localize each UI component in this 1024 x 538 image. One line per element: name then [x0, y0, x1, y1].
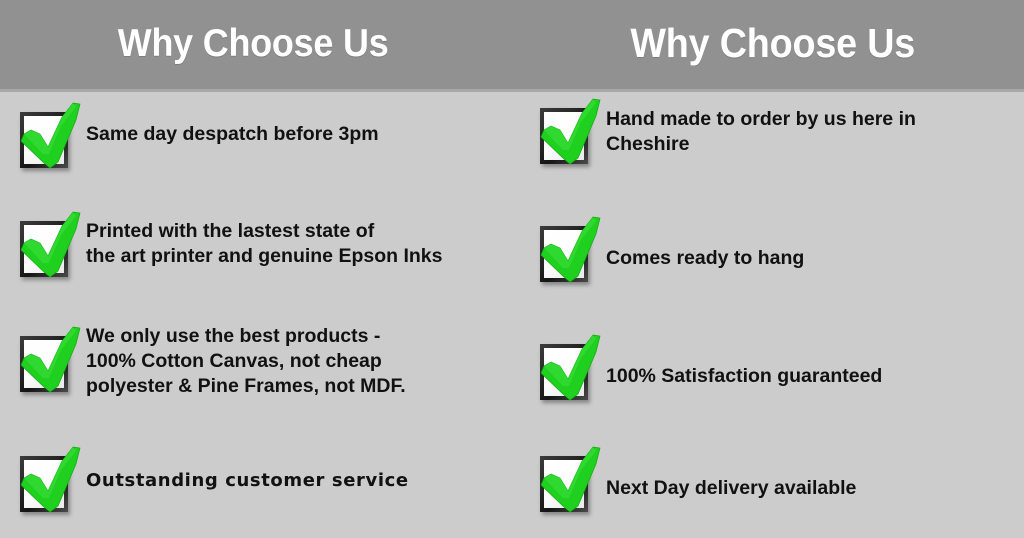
list-item-line: 100% Satisfaction guaranteed [606, 364, 882, 389]
list-item-line: Outstanding customer service [86, 468, 409, 493]
check-box-inner [544, 348, 584, 396]
check-box-inner [24, 116, 64, 164]
list-item: Printed with the lastest state of the ar… [18, 209, 442, 285]
list-item-text: Printed with the lastest state of the ar… [86, 209, 442, 269]
green-check-box-icon [18, 100, 86, 176]
check-box-inner [24, 340, 64, 388]
list-item-line: Same day despatch before 3pm [86, 122, 379, 147]
page-title-left: Why Choose Us [118, 24, 389, 63]
check-box-frame [20, 336, 68, 392]
check-box-inner [544, 460, 584, 508]
green-check-box-icon [18, 209, 86, 285]
check-box-inner [544, 230, 584, 278]
list-item-text: Outstanding customer service [86, 444, 409, 493]
header-column-right: Why Choose Us [512, 0, 1024, 92]
check-box-frame [20, 221, 68, 277]
check-box-inner [24, 225, 64, 273]
list-item-line: Comes ready to hang [606, 246, 804, 271]
list-item: Comes ready to hang [538, 214, 804, 290]
list-item: Hand made to order by us here in Cheshir… [538, 96, 916, 172]
page-title-right: Why Choose Us [631, 23, 916, 64]
check-box-frame [20, 456, 68, 512]
green-check-box-icon [538, 332, 606, 408]
list-item-text: We only use the best products - 100% Cot… [86, 324, 406, 399]
list-item-text: 100% Satisfaction guaranteed [606, 332, 882, 389]
list-item-text: Hand made to order by us here in Cheshir… [606, 96, 916, 157]
list-item-line: Cheshire [606, 132, 916, 157]
features-area: Same day despatch before 3pm Printed wit… [0, 92, 1024, 538]
green-check-box-icon [538, 214, 606, 290]
list-item: Same day despatch before 3pm [18, 100, 379, 176]
check-box-inner [24, 460, 64, 508]
check-box-frame [20, 112, 68, 168]
list-item-line: We only use the best products - [86, 324, 406, 349]
check-box-frame [540, 344, 588, 400]
list-item-text: Comes ready to hang [606, 214, 804, 271]
right-feature-column: Hand made to order by us here in Cheshir… [512, 92, 1024, 538]
list-item-line: the art printer and genuine Epson Inks [86, 244, 442, 269]
list-item: We only use the best products - 100% Cot… [18, 324, 406, 400]
check-box-frame [540, 456, 588, 512]
header-band: Why Choose Us Why Choose Us [0, 0, 1024, 92]
list-item-text: Next Day delivery available [606, 444, 856, 501]
check-box-frame [540, 108, 588, 164]
list-item-line: Printed with the lastest state of [86, 219, 442, 244]
list-item-line: Next Day delivery available [606, 476, 856, 501]
check-box-frame [540, 226, 588, 282]
list-item: Outstanding customer service [18, 444, 409, 520]
header-column-left: Why Choose Us [0, 0, 512, 92]
green-check-box-icon [538, 444, 606, 520]
list-item-line: 100% Cotton Canvas, not cheap [86, 349, 406, 374]
green-check-box-icon [18, 444, 86, 520]
list-item-line: polyester & Pine Frames, not MDF. [86, 374, 406, 399]
list-item-line: Hand made to order by us here in [606, 107, 916, 132]
green-check-box-icon [538, 96, 606, 172]
check-box-inner [544, 112, 584, 160]
why-choose-us-banner: Why Choose Us Why Choose Us Sa [0, 0, 1024, 538]
left-feature-column: Same day despatch before 3pm Printed wit… [0, 92, 512, 538]
list-item: 100% Satisfaction guaranteed [538, 332, 882, 408]
green-check-box-icon [18, 324, 86, 400]
list-item: Next Day delivery available [538, 444, 856, 520]
list-item-text: Same day despatch before 3pm [86, 100, 379, 147]
